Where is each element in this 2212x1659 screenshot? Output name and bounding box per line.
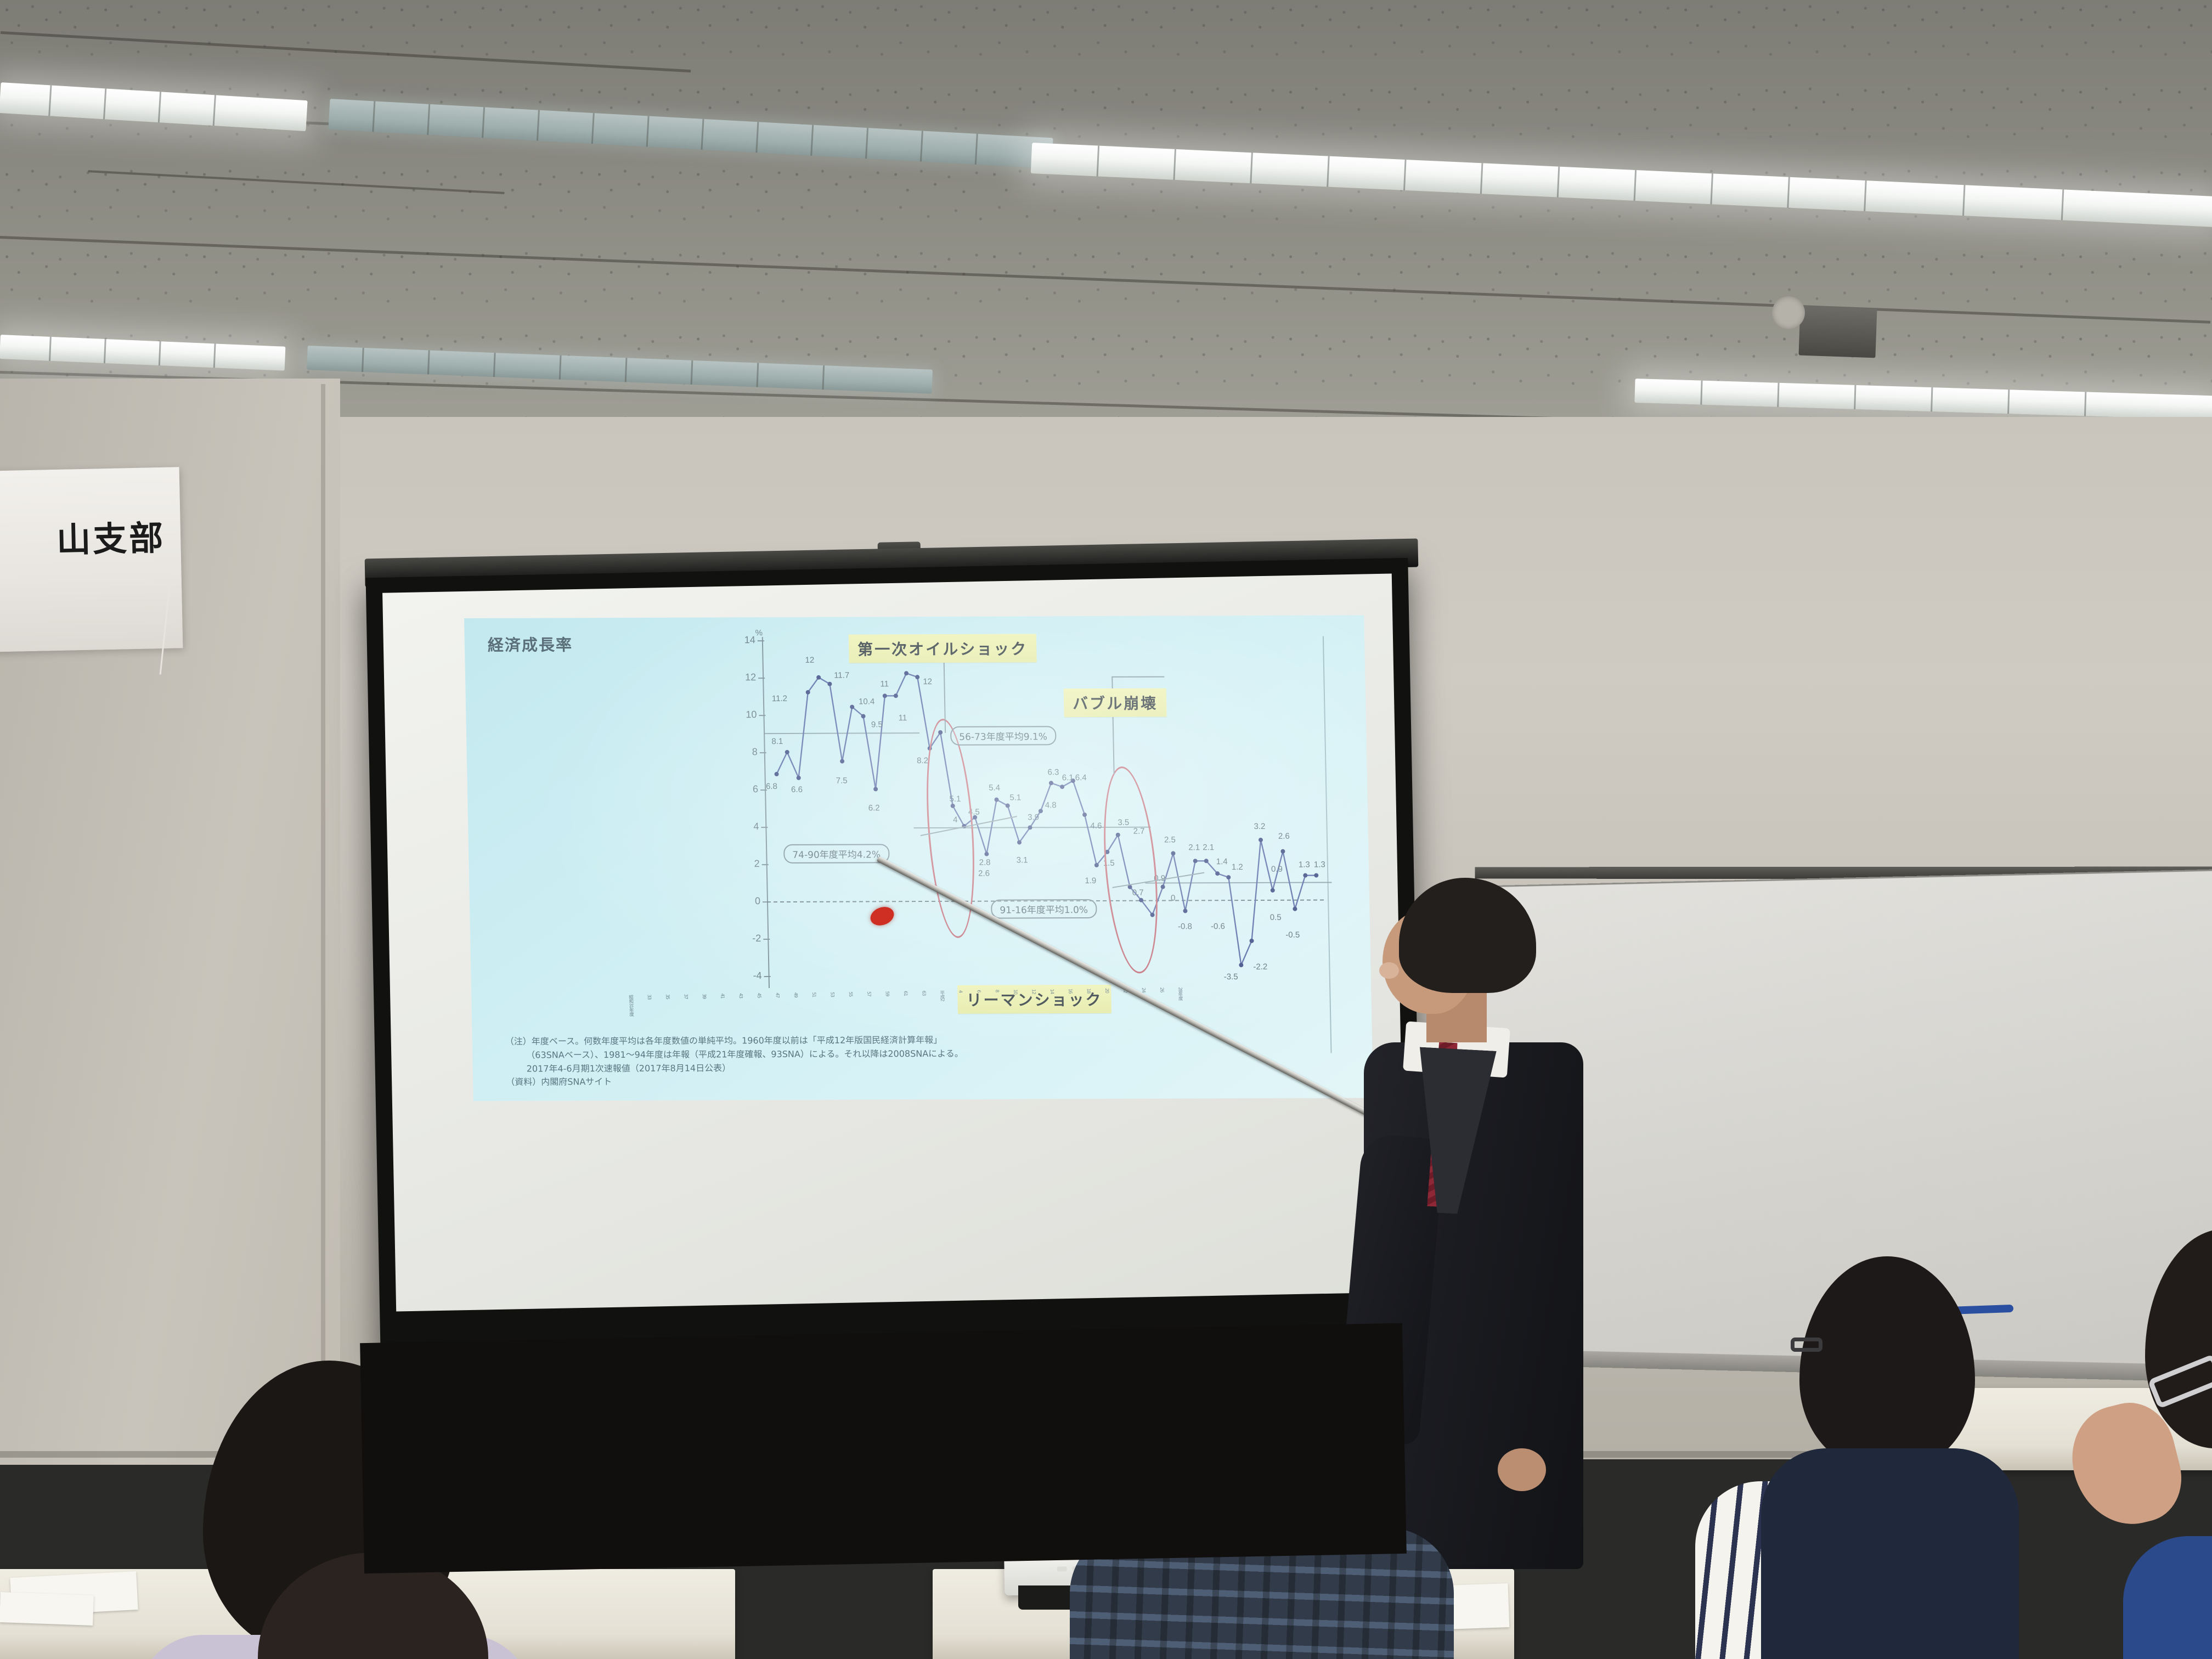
banner-text: 山支部 [56, 510, 166, 562]
point-label: 8.1 [771, 737, 783, 746]
point-label: 6.2 [868, 803, 880, 812]
point-label: 1.3 [1299, 860, 1310, 870]
point-label: 11 [880, 679, 889, 689]
point-label: 11.2 [772, 694, 787, 703]
point-label: 2.6 [978, 869, 990, 878]
point-label: 1.4 [1216, 857, 1228, 866]
point-label: 0.5 [1270, 913, 1282, 922]
point-label: -2.2 [1253, 962, 1267, 972]
point-label: 1.9 [1085, 876, 1096, 885]
point-label: 6.8 [766, 782, 777, 791]
point-label: -0.5 [1285, 930, 1300, 940]
point-label: 0 [1171, 893, 1176, 902]
point-label: 7.5 [836, 776, 848, 786]
point-label: -0.6 [1211, 922, 1225, 931]
point-label: 3.9 [1028, 812, 1039, 822]
label-first-oil-shock: 第一次オイルショック [849, 634, 1037, 663]
presenter-hair [1399, 878, 1536, 993]
point-label: 2.8 [979, 858, 991, 867]
point-label: 4.6 [1090, 821, 1102, 831]
chart-plot-area: % 14 12 10 8 6 4 2 0 -2 -4 [613, 625, 1268, 990]
point-label: 12 [923, 677, 932, 686]
handout-paper [0, 1592, 94, 1626]
screen-surface: 経済成長率 % 14 12 10 8 6 4 2 0 -2 -4 [382, 573, 1406, 1311]
eyeglasses-icon [1791, 1338, 1822, 1352]
point-label: 2.1 [1203, 843, 1214, 852]
screen-lower-shadow [360, 1323, 1407, 1573]
projected-slide: 経済成長率 % 14 12 10 8 6 4 2 0 -2 -4 [464, 615, 1373, 1101]
point-label: 1.3 [1314, 860, 1325, 870]
label-bubble-collapse: バブル崩壊 [1064, 689, 1167, 718]
point-label: -3.5 [1224, 972, 1238, 981]
point-label: 9.5 [871, 720, 883, 729]
footnote-line: （資料）内閣府SNAサイト [506, 1073, 1329, 1090]
point-label: 6.4 [1075, 773, 1087, 782]
wall-corner [321, 384, 325, 1459]
x-axis-labels: 昭和31年度3335 373941 434547 495153 555759 6… [628, 987, 1183, 1030]
point-label: 6.6 [791, 785, 803, 794]
point-label: 11.7 [834, 671, 849, 680]
projection-screen: 経済成長率 % 14 12 10 8 6 4 2 0 -2 -4 [366, 558, 1423, 1357]
point-label: 5.4 [989, 783, 1000, 793]
growth-rate-line [613, 625, 1345, 1011]
smoke-detector-icon [1772, 296, 1805, 329]
point-label: 2.5 [1164, 835, 1176, 844]
wall-banner: 山支部 [0, 467, 183, 652]
slide-title: 経済成長率 [487, 632, 573, 656]
ceiling-vent [1798, 306, 1877, 358]
point-label: 10.4 [859, 697, 875, 706]
point-label: 2.6 [1278, 832, 1290, 841]
callout-avg-74-90: 74-90年度平均4.2% [783, 844, 889, 864]
point-label: 2.1 [1188, 843, 1200, 852]
point-label: 12 [805, 656, 814, 665]
point-label: 0.9 [1271, 865, 1283, 874]
point-label: 3.2 [1254, 822, 1265, 831]
point-label: 1.2 [1232, 862, 1243, 872]
callout-avg-91-16: 91-16年度平均1.0% [991, 899, 1097, 919]
point-label: 4.8 [1045, 800, 1057, 810]
point-label: 6.1 [1062, 773, 1074, 782]
point-label: 6.3 [1047, 768, 1059, 777]
callout-avg-56-73: 56-73年度平均9.1% [950, 726, 1056, 746]
point-label: 8.2 [917, 756, 928, 765]
point-label: -0.8 [1178, 922, 1192, 931]
point-label: 5.1 [1009, 793, 1021, 802]
presenter-hand-lower [1498, 1448, 1546, 1491]
slide-footnote: （注）年度ベース。何数年度平均は各年度数値の単純平均。1960年度以前は「平成1… [505, 1032, 1329, 1089]
point-label: 3.1 [1016, 855, 1028, 865]
lecture-room: 山支部 経済成長率 % 14 12 10 8 6 [0, 0, 2212, 1659]
point-label: 11 [898, 713, 907, 723]
